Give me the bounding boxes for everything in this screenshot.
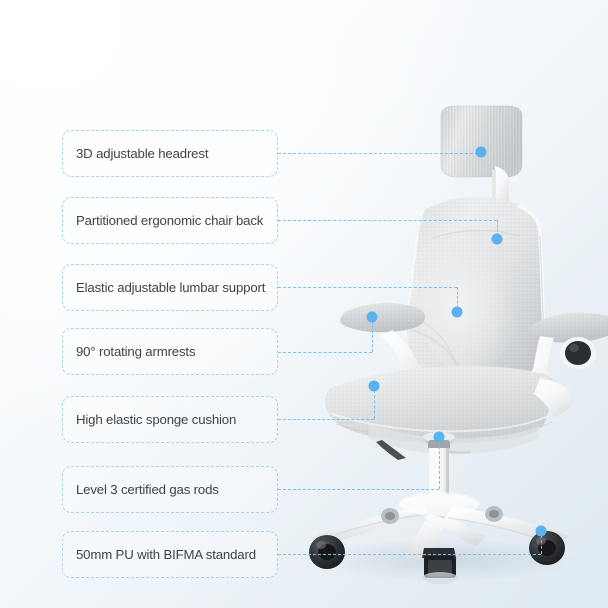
feature-box-lumbar[interactable]: Elastic adjustable lumbar support: [62, 264, 278, 311]
connector-lumbar: [278, 287, 457, 288]
callout-dot-lumbar: [452, 307, 463, 318]
feature-label-headrest: 3D adjustable headrest: [63, 146, 208, 161]
connector-armrests-rise: [372, 321, 373, 352]
connector-gasrod-rise: [439, 441, 440, 489]
connector-casters-rise: [541, 535, 542, 554]
callout-dot-casters: [536, 526, 547, 537]
connector-gasrod: [278, 489, 439, 490]
feature-label-armrests: 90° rotating armrests: [63, 344, 195, 359]
callout-dot-chairback: [492, 234, 503, 245]
callout-dot-gasrod: [434, 432, 445, 443]
feature-label-casters: 50mm PU with BIFMA standard: [63, 547, 256, 562]
chair-backrest: [407, 197, 544, 394]
feature-box-chairback[interactable]: Partitioned ergonomic chair back: [62, 197, 278, 244]
feature-box-cushion[interactable]: High elastic sponge cushion: [62, 396, 278, 443]
feature-box-casters[interactable]: 50mm PU with BIFMA standard: [62, 531, 278, 578]
page-title: 7 Experience Improvement: [0, 28, 608, 66]
connector-cushion: [278, 419, 374, 420]
feature-label-cushion: High elastic sponge cushion: [63, 412, 236, 427]
infographic-canvas: 7 Experience Improvement 3D adjustable h…: [0, 0, 608, 608]
feature-label-gasrod: Level 3 certified gas rods: [63, 482, 219, 497]
feature-box-headrest[interactable]: 3D adjustable headrest: [62, 130, 278, 177]
connector-armrests: [278, 352, 372, 353]
connector-lumbar-drop: [457, 287, 458, 308]
feature-label-lumbar: Elastic adjustable lumbar support: [63, 280, 265, 295]
connector-headrest: [278, 153, 478, 154]
callout-dot-cushion: [369, 381, 380, 392]
feature-box-gasrod[interactable]: Level 3 certified gas rods: [62, 466, 278, 513]
connector-cushion-rise: [374, 390, 375, 419]
callout-dot-headrest: [476, 147, 487, 158]
feature-label-chairback: Partitioned ergonomic chair back: [63, 213, 263, 228]
feature-box-armrests[interactable]: 90° rotating armrests: [62, 328, 278, 375]
connector-casters: [278, 554, 541, 555]
callout-dot-armrests: [367, 312, 378, 323]
chair-tension-knob: [560, 337, 596, 369]
connector-chairback: [278, 220, 497, 221]
